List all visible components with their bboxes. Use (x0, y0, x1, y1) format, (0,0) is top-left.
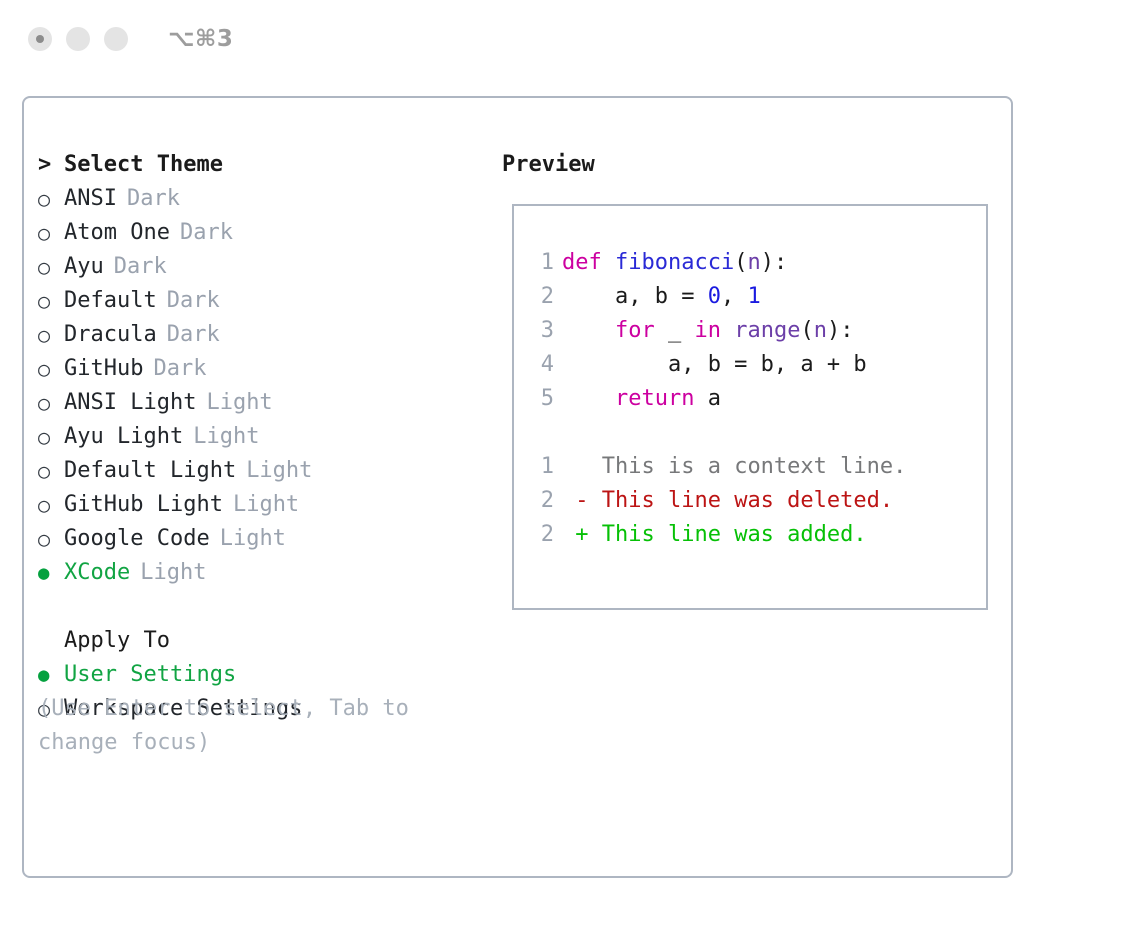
theme-list-item[interactable]: ○ANSI LightLight (38, 386, 488, 420)
radio-unselected-icon[interactable]: ○ (38, 522, 64, 556)
theme-list: ○ANSIDark○Atom OneDark○AyuDark○DefaultDa… (38, 182, 488, 590)
theme-variant-tag: Dark (167, 284, 220, 318)
theme-list-item[interactable]: ○AyuDark (38, 250, 488, 284)
diff-text: This line was added. (589, 522, 867, 547)
code-token: ( (734, 250, 747, 275)
code-token: n (747, 250, 760, 275)
radio-unselected-icon[interactable]: ○ (38, 318, 64, 352)
diff-line: 2 - This line was deleted. (528, 484, 980, 518)
keyboard-hint: (Use Enter to select, Tab to change focu… (38, 692, 458, 760)
line-number: 2 (528, 518, 554, 552)
theme-variant-tag: Light (193, 420, 259, 454)
code-token: , (721, 284, 748, 309)
diff-line: 2 + This line was added. (528, 518, 980, 552)
code-token: in (694, 318, 721, 343)
line-number: 5 (528, 382, 554, 416)
traffic-light-third[interactable] (104, 27, 128, 51)
radio-unselected-icon[interactable]: ○ (38, 284, 64, 318)
theme-list-item[interactable]: ○Atom OneDark (38, 216, 488, 250)
title-bar: ⌥⌘3 (0, 0, 1140, 78)
code-token: ): (827, 318, 854, 343)
theme-name: Ayu (64, 250, 104, 284)
code-token: range (734, 318, 800, 343)
theme-variant-tag: Dark (153, 352, 206, 386)
theme-variant-tag: Dark (114, 250, 167, 284)
radio-selected-icon[interactable]: ● (38, 556, 64, 590)
code-line: 3 for _ in range(n): (528, 314, 980, 348)
theme-name: GitHub Light (64, 488, 223, 522)
theme-variant-tag: Light (246, 454, 312, 488)
theme-list-item[interactable]: ○ANSIDark (38, 182, 488, 216)
theme-variant-tag: Dark (167, 318, 220, 352)
theme-list-item[interactable]: ○DefaultDark (38, 284, 488, 318)
theme-list-item[interactable]: ●XCodeLight (38, 556, 488, 590)
theme-name: Default (64, 284, 157, 318)
theme-variant-tag: Light (233, 488, 299, 522)
radio-selected-icon[interactable]: ● (38, 658, 64, 692)
theme-name: Atom One (64, 216, 170, 250)
code-token: def (562, 250, 615, 275)
diff-marker: - (562, 488, 589, 513)
preview-column: Preview (502, 148, 1002, 182)
diff-marker: + (562, 522, 589, 547)
apply-to-item[interactable]: ●User Settings (38, 658, 488, 692)
code-token: a, b = (562, 284, 708, 309)
theme-list-item[interactable]: ○GitHub LightLight (38, 488, 488, 522)
radio-unselected-icon[interactable]: ○ (38, 420, 64, 454)
theme-picker-header: >Select Theme (38, 148, 488, 182)
code-line: 2 a, b = 0, 1 (528, 280, 980, 314)
code-token: _ (655, 318, 695, 343)
line-number: 4 (528, 348, 554, 382)
code-token (721, 318, 734, 343)
traffic-light-second[interactable] (66, 27, 90, 51)
theme-name: XCode (64, 556, 130, 590)
line-number: 1 (528, 246, 554, 280)
theme-picker-header-label: Select Theme (64, 148, 223, 182)
theme-name: Ayu Light (64, 420, 183, 454)
apply-to-label: User Settings (64, 658, 236, 692)
code-token: a (694, 386, 721, 411)
diff-text: This is a context line. (589, 454, 907, 479)
theme-name: Default Light (64, 454, 236, 488)
radio-unselected-icon[interactable]: ○ (38, 216, 64, 250)
radio-unselected-icon[interactable]: ○ (38, 454, 64, 488)
code-token: for (615, 318, 655, 343)
theme-name: Google Code (64, 522, 210, 556)
line-number: 3 (528, 314, 554, 348)
code-token: ): (761, 250, 788, 275)
apply-to-header: Apply To (38, 624, 488, 658)
theme-list-item[interactable]: ○Ayu LightLight (38, 420, 488, 454)
preview-title: Preview (502, 148, 1002, 182)
radio-unselected-icon[interactable]: ○ (38, 250, 64, 284)
code-token (562, 386, 615, 411)
traffic-light-dots (28, 27, 128, 51)
theme-variant-tag: Dark (127, 182, 180, 216)
theme-picker-column: >Select Theme ○ANSIDark○Atom OneDark○Ayu… (38, 148, 488, 726)
theme-name: ANSI Light (64, 386, 196, 420)
code-token: ( (800, 318, 813, 343)
keyboard-shortcut-label: ⌥⌘3 (168, 26, 233, 52)
diff-line: 1 This is a context line. (528, 450, 980, 484)
theme-variant-tag: Dark (180, 216, 233, 250)
theme-name: ANSI (64, 182, 117, 216)
preview-box: 1def fibonacci(n):2 a, b = 0, 13 for _ i… (512, 204, 988, 610)
line-number: 2 (528, 280, 554, 314)
list-spacer (38, 590, 488, 624)
theme-name: Dracula (64, 318, 157, 352)
theme-variant-tag: Light (140, 556, 206, 590)
radio-unselected-icon[interactable]: ○ (38, 352, 64, 386)
apply-to-header-label: Apply To (64, 624, 170, 658)
app-window: ⌥⌘3 >Select Theme ○ANSIDark○Atom OneDark… (0, 0, 1140, 934)
theme-list-item[interactable]: ○Default LightLight (38, 454, 488, 488)
code-token: a, b = b, a + b (562, 352, 867, 377)
code-token: n (814, 318, 827, 343)
code-token: 0 (708, 284, 721, 309)
code-blank-line (528, 416, 980, 450)
code-line: 5 return a (528, 382, 980, 416)
code-preview: 1def fibonacci(n):2 a, b = 0, 13 for _ i… (528, 246, 980, 552)
code-token: return (615, 386, 694, 411)
diff-text: This line was deleted. (589, 488, 894, 513)
tui-panel: >Select Theme ○ANSIDark○Atom OneDark○Ayu… (22, 96, 1013, 878)
traffic-light-recording[interactable] (28, 27, 52, 51)
theme-name: GitHub (64, 352, 143, 386)
theme-list-item[interactable]: ○DraculaDark (38, 318, 488, 352)
radio-unselected-icon[interactable]: ○ (38, 488, 64, 522)
theme-list-item[interactable]: ○GitHubDark (38, 352, 488, 386)
line-number: 2 (528, 484, 554, 518)
code-line: 4 a, b = b, a + b (528, 348, 980, 382)
caret-icon: > (38, 148, 64, 182)
theme-list-item[interactable]: ○Google CodeLight (38, 522, 488, 556)
code-token: fibonacci (615, 250, 734, 275)
code-line: 1def fibonacci(n): (528, 246, 980, 280)
radio-unselected-icon[interactable]: ○ (38, 386, 64, 420)
code-token (562, 318, 615, 343)
theme-variant-tag: Light (206, 386, 272, 420)
code-token: 1 (747, 284, 760, 309)
radio-unselected-icon[interactable]: ○ (38, 182, 64, 216)
diff-marker (562, 454, 589, 479)
theme-variant-tag: Light (220, 522, 286, 556)
line-number: 1 (528, 450, 554, 484)
